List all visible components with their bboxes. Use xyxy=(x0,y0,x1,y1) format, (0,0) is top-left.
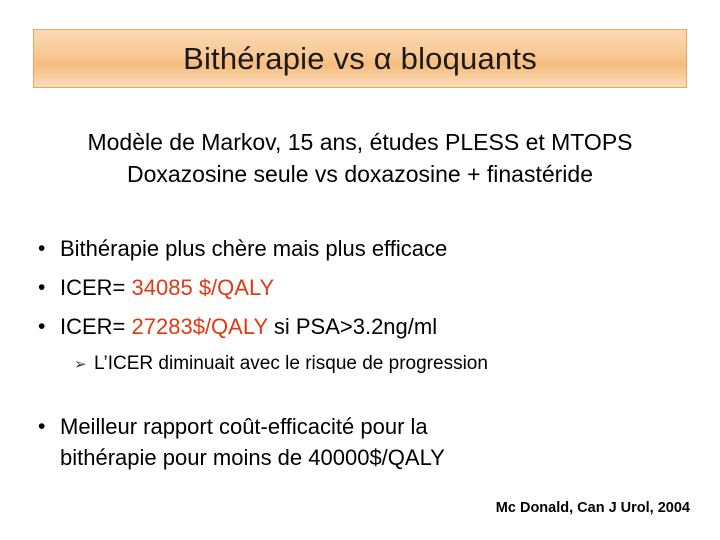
bullet-marker-icon: • xyxy=(38,311,60,342)
icer-value-highlight: 27283$/QALY xyxy=(132,314,268,339)
subtitle-line-2: Doxazosine seule vs doxazosine + finasté… xyxy=(30,158,690,190)
list-item-text-part: si PSA>3.2ng/ml xyxy=(268,314,437,339)
page-title: Bithérapie vs α bloquants xyxy=(183,41,537,77)
list-item-text: ICER= 27283$/QALY si PSA>3.2ng/ml xyxy=(60,311,688,342)
list-item-text: Bithérapie plus chère mais plus efficace xyxy=(60,233,688,264)
list-item: • Meilleur rapport coût-efficacité pour … xyxy=(38,411,688,473)
slide: Bithérapie vs α bloquants Modèle de Mark… xyxy=(0,0,720,540)
list-item-text-part: ICER= xyxy=(60,275,132,300)
bullet-marker-icon: • xyxy=(38,272,60,303)
list-item: • ICER= 34085 $/QALY xyxy=(38,272,688,303)
chevron-right-icon: ➢ xyxy=(74,350,94,379)
slide-title-box: Bithérapie vs α bloquants xyxy=(33,29,687,88)
list-item: • Bithérapie plus chère mais plus effica… xyxy=(38,233,688,264)
list-item-text-part: Bithérapie plus chère mais plus efficace xyxy=(60,236,447,261)
sub-list-item: ➢ L’ICER diminuait avec le risque de pro… xyxy=(74,350,688,379)
list-item-text: ICER= 34085 $/QALY xyxy=(60,272,688,303)
subtitle-line-1: Modèle de Markov, 15 ans, études PLESS e… xyxy=(30,126,690,158)
citation-reference: Mc Donald, Can J Urol, 2004 xyxy=(0,500,690,516)
bullet-marker-icon: • xyxy=(38,233,60,264)
icer-value-highlight: 34085 $/QALY xyxy=(132,275,275,300)
bullet-marker-icon: • xyxy=(38,411,60,442)
list-item-line-1: Meilleur rapport coût-efficacité pour la xyxy=(60,411,688,442)
slide-subtitle: Modèle de Markov, 15 ans, études PLESS e… xyxy=(30,126,690,190)
sub-list-item-text: L’ICER diminuait avec le risque de progr… xyxy=(94,350,688,378)
list-item-line-2: bithérapie pour moins de 40000$/QALY xyxy=(60,442,688,473)
list-item-text-part: ICER= xyxy=(60,314,132,339)
list-item: • ICER= 27283$/QALY si PSA>3.2ng/ml xyxy=(38,311,688,342)
spacer xyxy=(38,385,688,411)
list-item-text: Meilleur rapport coût-efficacité pour la… xyxy=(60,411,688,473)
bullet-list: • Bithérapie plus chère mais plus effica… xyxy=(38,233,688,481)
